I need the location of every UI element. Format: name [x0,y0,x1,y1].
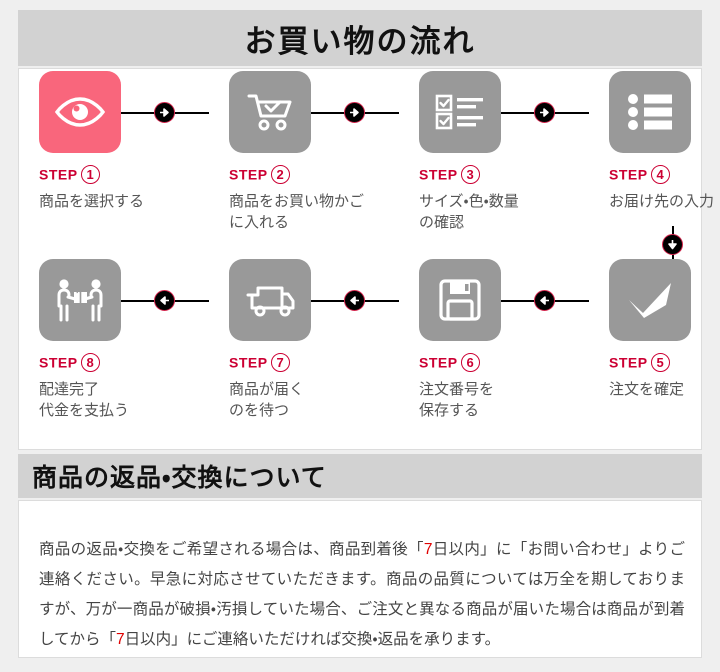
step-number: 6 [461,353,480,372]
step-description: 商品が届く のを待つ [229,379,373,422]
step-label: STEP6 [419,353,563,372]
step-word: STEP [419,355,458,371]
policy-text-run: 商品の返品・交換をご希望される場合は、商品到着後「 [39,541,424,558]
checkmark-icon [626,280,674,320]
step-description: お届け先の入力 [609,191,720,212]
step-number: 7 [271,353,290,372]
flow-panel: STEP1 商品を選択する ST [18,68,702,450]
step-number: 3 [461,165,480,184]
step-label: STEP3 [419,165,563,184]
step-label: STEP1 [39,165,183,184]
returns-panel: 商品の返品・交換をご希望される場合は、商品到着後「7日以内」に「お問い合わせ」よ… [18,500,702,658]
step-icon-box [39,71,121,153]
step-word: STEP [39,355,78,371]
step-label: STEP2 [229,165,373,184]
step-description: 注文番号を 保存する [419,379,563,422]
step-word: STEP [229,167,268,183]
step-label: STEP5 [609,353,720,372]
flow-row-1: STEP1 商品を選択する ST [19,71,703,256]
flow-step-7[interactable]: STEP7 商品が届く のを待つ [221,259,373,422]
step-word: STEP [419,167,458,183]
step-number: 2 [271,165,290,184]
step-number: 5 [651,353,670,372]
step-word: STEP [39,167,78,183]
shopping-flow-page: お買い物の流れ [0,0,720,672]
delivery-truck-icon [244,281,296,319]
step-description: 商品をお買い物かご に入れる [229,191,373,234]
eye-icon [54,95,106,129]
returns-heading: 商品の返品・交換について [32,458,327,494]
step-icon-box [229,259,311,341]
step-description: 配達完了 代金を支払う [39,379,183,422]
shopping-cart-icon [246,91,294,133]
step-number: 4 [651,165,670,184]
checklist-icon [435,94,485,130]
step-label: STEP7 [229,353,373,372]
step-icon-box [609,259,691,341]
flow-step-6[interactable]: STEP6 注文番号を 保存する [411,259,563,422]
flow-step-5[interactable]: STEP5 注文を確定 [601,259,720,400]
step-icon-box [609,71,691,153]
step-number: 8 [81,353,100,372]
flow-step-3[interactable]: STEP3 サイズ・色・数量 の確認 [411,71,563,234]
step-description: 注文を確定 [609,379,720,400]
flow-row-2: STEP8 配達完了 代金を支払う [19,259,703,444]
flow-step-1[interactable]: STEP1 商品を選択する [31,71,183,212]
flow-step-2[interactable]: STEP2 商品をお買い物かご に入れる [221,71,373,234]
flow-step-8[interactable]: STEP8 配達完了 代金を支払う [31,259,183,422]
step-icon-box [39,259,121,341]
list-icon [627,93,673,131]
step-description: 商品を選択する [39,191,183,212]
step-label: STEP4 [609,165,720,184]
step-label: STEP8 [39,353,183,372]
highlight-days: 7 [116,631,125,648]
step-word: STEP [609,167,648,183]
step-description: サイズ・色・数量 の確認 [419,191,563,234]
returns-policy-text: 商品の返品・交換をご希望される場合は、商品到着後「7日以内」に「お問い合わせ」よ… [39,535,685,656]
page-title: お買い物の流れ [245,16,476,61]
returns-section-title-bar: 商品の返品・交換について [18,454,702,498]
step-number: 1 [81,165,100,184]
arrow-down-icon [662,234,683,255]
step-word: STEP [229,355,268,371]
step-icon-box [419,71,501,153]
step-icon-box [229,71,311,153]
page-title-bar: お買い物の流れ [18,10,702,66]
step-word: STEP [609,355,648,371]
handover-package-icon [54,278,106,322]
flow-step-4[interactable]: STEP4 お届け先の入力 [601,71,720,212]
policy-text-run: 日以内」にご連絡いただければ交換・返品を承ります。 [125,631,500,648]
step-icon-box [419,259,501,341]
save-disk-icon [439,279,481,321]
